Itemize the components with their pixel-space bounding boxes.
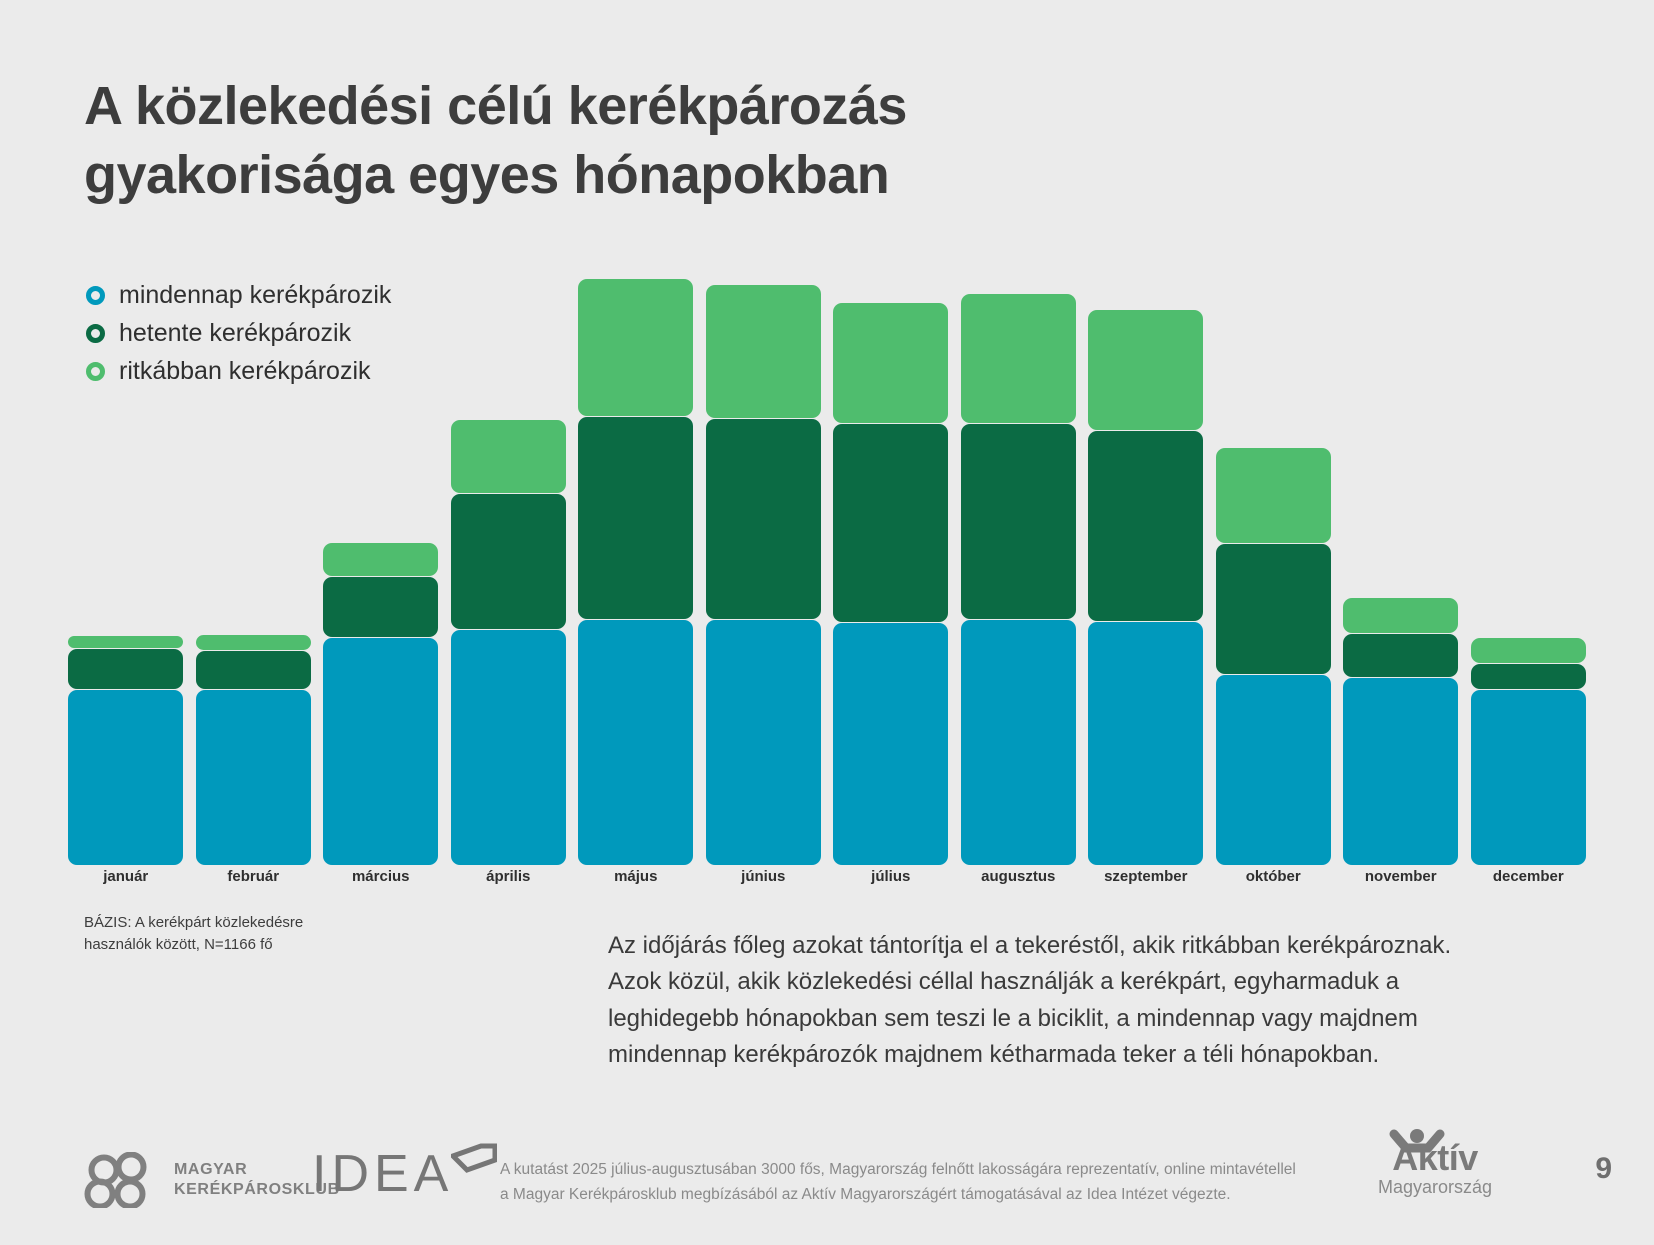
slide-root: A közlekedési célú kerékpározás gyakoris… [0,0,1654,1245]
bar-stack [1343,597,1458,865]
bar-segment[interactable] [578,279,693,416]
month-label: június [700,868,828,885]
bar-column[interactable] [1082,265,1210,865]
month-label: szeptember [1082,868,1210,885]
bar-stack [196,634,311,865]
bar-segment[interactable] [961,294,1076,423]
page-title: A közlekedési célú kerékpározás gyakoris… [84,72,1284,210]
bar-column[interactable] [1465,265,1593,865]
bar-stack [1216,447,1331,865]
bar-segment[interactable] [1216,675,1331,865]
three-rings-icon [82,1152,164,1208]
aktiv-subtitle: Magyarország [1378,1177,1492,1199]
idea-logo: IDEA [312,1148,497,1200]
bar-column[interactable] [827,265,955,865]
stacked-bar-chart [62,265,1592,865]
bar-stack [451,419,566,865]
bar-column[interactable] [1337,265,1465,865]
month-label: január [62,868,190,885]
commentary-paragraph: Az időjárás főleg azokat tántorítja el a… [608,928,1488,1074]
month-label: október [1210,868,1338,885]
chart-bars-container [62,265,1592,865]
bar-stack [323,542,438,865]
bar-column[interactable] [190,265,318,865]
bar-segment[interactable] [323,543,438,576]
bar-segment[interactable] [961,620,1076,865]
bar-segment[interactable] [451,494,566,629]
bar-segment[interactable] [1471,638,1586,663]
bar-segment[interactable] [961,424,1076,619]
bar-segment[interactable] [578,417,693,619]
bar-segment[interactable] [833,623,948,865]
bar-segment[interactable] [1471,690,1586,865]
bar-stack [68,635,183,865]
bar-column[interactable] [317,265,445,865]
bar-stack [833,302,948,865]
bar-segment[interactable] [706,285,821,418]
bar-segment[interactable] [68,636,183,648]
aktiv-magyarorszag-logo: Aktív Magyarország [1378,1140,1492,1199]
bar-segment[interactable] [833,424,948,622]
bar-segment[interactable] [451,420,566,493]
footer-methodology-note: A kutatást 2025 július-augusztusában 300… [500,1158,1370,1208]
magyar-kerekparosklub-logo: MAGYAR KERÉKPÁROSKLUB [82,1152,340,1208]
bar-column[interactable] [445,265,573,865]
bar-stack [961,293,1076,865]
bar-column[interactable] [955,265,1083,865]
bar-segment[interactable] [196,635,311,650]
bar-segment[interactable] [706,419,821,619]
bar-segment[interactable] [1216,544,1331,674]
bar-column[interactable] [700,265,828,865]
bar-segment[interactable] [1343,634,1458,677]
bar-segment[interactable] [196,651,311,689]
bar-stack [578,278,693,865]
bar-segment[interactable] [1471,664,1586,689]
month-label: december [1465,868,1593,885]
bar-segment[interactable] [451,630,566,865]
month-label: augusztus [955,868,1083,885]
month-label: július [827,868,955,885]
bar-segment[interactable] [1088,431,1203,621]
bar-segment[interactable] [1343,598,1458,633]
month-label: március [317,868,445,885]
running-person-icon [1386,1128,1448,1166]
bar-stack [1088,309,1203,865]
month-label: november [1337,868,1465,885]
bar-column[interactable] [572,265,700,865]
bar-segment[interactable] [323,638,438,865]
page-number: 9 [1595,1152,1612,1186]
bar-segment[interactable] [706,620,821,865]
bar-column[interactable] [62,265,190,865]
bar-segment[interactable] [323,577,438,637]
month-label: április [445,868,573,885]
bar-segment[interactable] [196,690,311,865]
bar-segment[interactable] [68,690,183,865]
bar-stack [706,284,821,865]
idea-mark-icon [451,1142,497,1174]
idea-wordmark: IDEA [312,1148,453,1200]
bar-segment[interactable] [1216,448,1331,543]
bar-segment[interactable] [68,649,183,689]
bar-segment[interactable] [578,620,693,865]
chart-base-note: BÁZIS: A kerékpárt közlekedésre használó… [84,912,303,956]
bar-segment[interactable] [1088,622,1203,865]
x-axis-month-labels: januárfebruármárciusáprilismájusjúniusjú… [62,868,1592,885]
bar-segment[interactable] [1343,678,1458,865]
bar-column[interactable] [1210,265,1338,865]
month-label: február [190,868,318,885]
bar-segment[interactable] [833,303,948,423]
month-label: május [572,868,700,885]
bar-stack [1471,637,1586,865]
bar-segment[interactable] [1088,310,1203,430]
